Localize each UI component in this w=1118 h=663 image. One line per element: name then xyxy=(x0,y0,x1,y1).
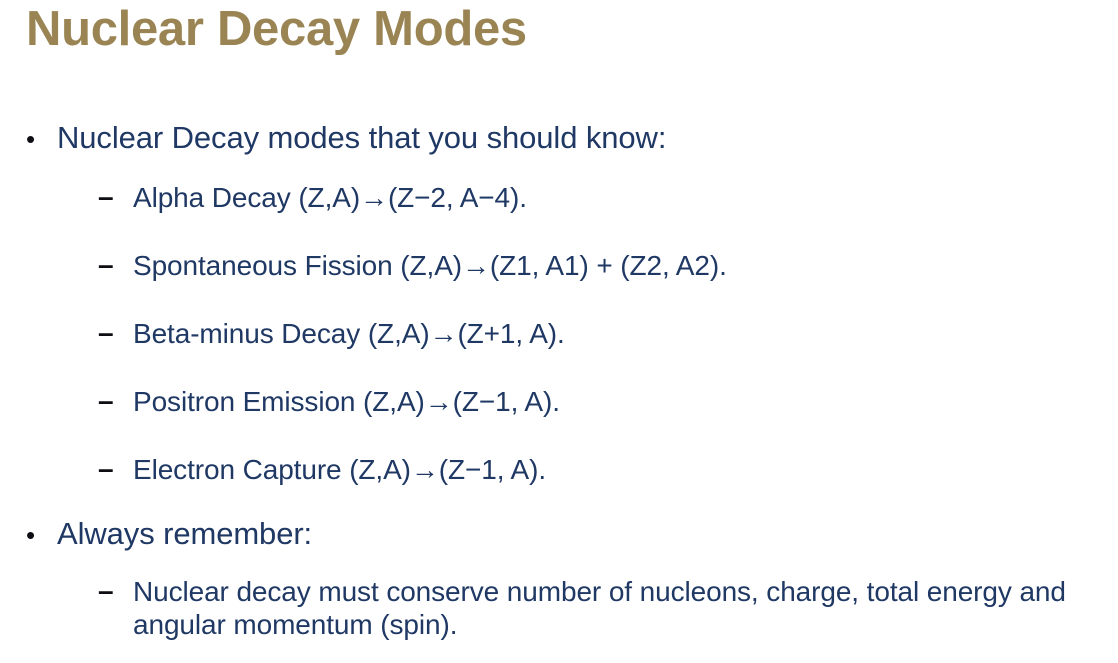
dash-bullet-icon: – xyxy=(98,386,113,416)
bullet-item-intro: • Nuclear Decay modes that you should kn… xyxy=(0,122,1118,155)
dash-bullet-icon: – xyxy=(98,576,113,606)
bullet-text: Alpha Decay (Z,A)→(Z−2, A−4). xyxy=(133,182,527,213)
bullet-text: Electron Capture (Z,A)→(Z−1, A). xyxy=(133,454,546,485)
bullet-item-conservation-rule: – Nuclear decay must conserve number of … xyxy=(0,576,1118,641)
bullet-text: Nuclear decay must conserve number of nu… xyxy=(133,576,1096,641)
dash-bullet-icon: – xyxy=(98,454,113,484)
slide-canvas: Nuclear Decay Modes • Nuclear Decay mode… xyxy=(0,0,1118,663)
bullet-text: Nuclear Decay modes that you should know… xyxy=(57,120,666,155)
page-title: Nuclear Decay Modes xyxy=(26,2,527,58)
bullet-item-positron-emission: – Positron Emission (Z,A)→(Z−1, A). xyxy=(0,387,1118,417)
bullet-item-electron-capture: – Electron Capture (Z,A)→(Z−1, A). xyxy=(0,455,1118,485)
bullet-item-beta-minus-decay: – Beta-minus Decay (Z,A)→(Z+1, A). xyxy=(0,319,1118,349)
dash-bullet-icon: – xyxy=(98,250,113,280)
bullet-item-spontaneous-fission: – Spontaneous Fission (Z,A)→(Z1, A1) + (… xyxy=(0,251,1118,281)
dash-bullet-icon: – xyxy=(98,318,113,348)
bullet-dot-icon: • xyxy=(26,123,35,156)
bullet-text: Positron Emission (Z,A)→(Z−1, A). xyxy=(133,386,560,417)
bullet-dot-icon: • xyxy=(26,519,35,552)
bullet-item-alpha-decay: – Alpha Decay (Z,A)→(Z−2, A−4). xyxy=(0,183,1118,213)
dash-bullet-icon: – xyxy=(98,182,113,212)
bullet-text: Beta-minus Decay (Z,A)→(Z+1, A). xyxy=(133,318,565,349)
slide-body-content: • Nuclear Decay modes that you should kn… xyxy=(0,122,1118,641)
bullet-item-always-remember: • Always remember: xyxy=(0,518,1118,551)
bullet-text: Spontaneous Fission (Z,A)→(Z1, A1) + (Z2… xyxy=(133,250,727,281)
bullet-text: Always remember: xyxy=(57,516,312,551)
